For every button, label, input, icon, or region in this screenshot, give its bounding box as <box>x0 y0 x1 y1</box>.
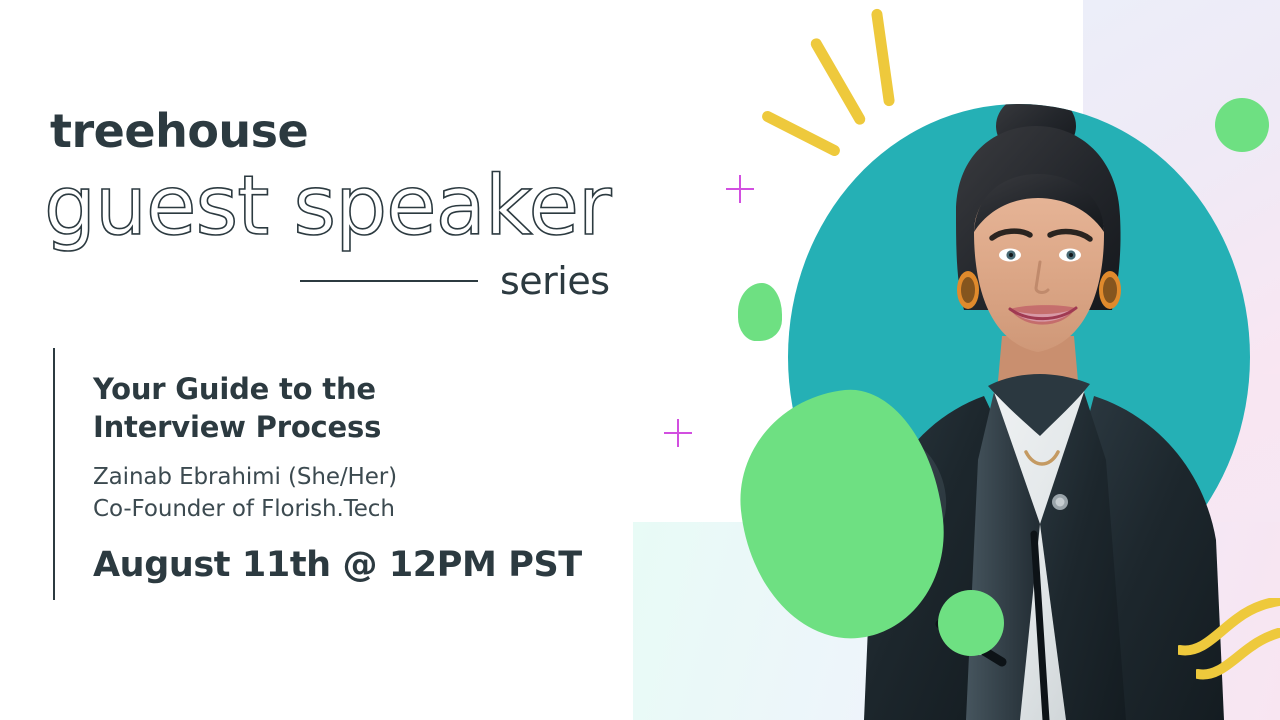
green-circle-shape <box>938 590 1004 656</box>
talk-title-line-2: Interview Process <box>93 410 381 444</box>
svg-text:guest speaker: guest speaker <box>44 159 612 254</box>
series-divider <box>300 280 478 282</box>
series-label: series <box>500 262 610 300</box>
event-datetime: August 11th @ 12PM PST <box>93 546 653 585</box>
talk-title-line-1: Your Guide to the <box>93 372 376 406</box>
slide-canvas: treehouse guest speaker series Your Guid… <box>0 0 1280 720</box>
green-blob-shape <box>738 283 782 341</box>
plus-mark-icon <box>664 419 692 447</box>
guest-speaker-headline: guest speaker <box>44 160 664 252</box>
speaker-name: Zainab Ebrahimi (She/Her) <box>93 461 653 494</box>
treehouse-wordmark: treehouse <box>50 108 308 154</box>
squiggle-lines-icon <box>1196 628 1280 680</box>
speaker-role: Co-Founder of Florish.Tech <box>93 493 653 526</box>
event-details: Your Guide to the Interview Process Zain… <box>53 348 653 600</box>
plus-mark-icon <box>726 175 754 203</box>
series-row: series <box>300 258 630 304</box>
talk-title: Your Guide to the Interview Process <box>93 370 653 447</box>
